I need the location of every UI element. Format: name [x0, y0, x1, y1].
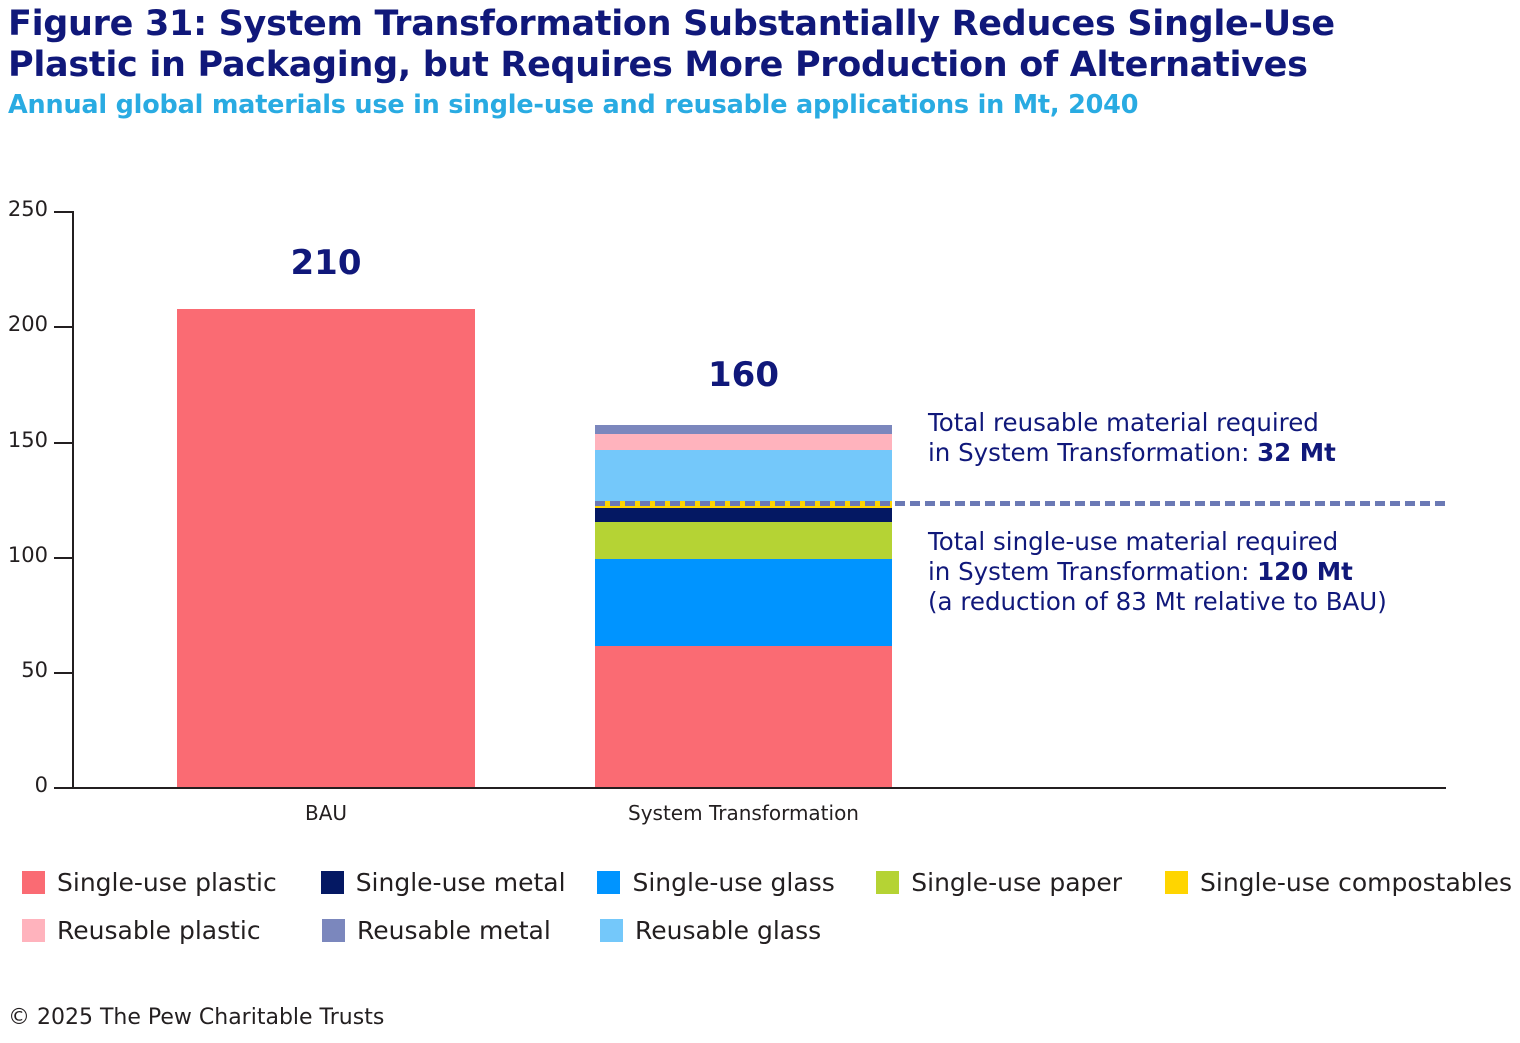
y-tick-50: 50 [0, 672, 74, 674]
bar-bau[interactable] [177, 309, 475, 787]
legend-label-single-use-metal: Single-use metal [356, 869, 566, 896]
y-tick-100: 100 [0, 557, 74, 559]
figure-title-line-2: Plastic in Packaging, but Requires More … [8, 45, 1488, 86]
figure-subtitle: Annual global materials use in single-us… [8, 88, 1488, 122]
segment-st-single-use-paper[interactable] [595, 522, 892, 559]
y-tick-mark [54, 787, 74, 789]
legend-swatch-single-use-metal [321, 871, 344, 894]
legend-swatch-reusable-metal [322, 919, 345, 942]
y-tick-mark [54, 211, 74, 213]
y-tick-mark [54, 442, 74, 444]
y-tick-0: 0 [0, 787, 74, 789]
reusable-annotation-line-2: in System Transformation: 32 Mt [928, 438, 1336, 468]
legend-swatch-reusable-glass [600, 919, 623, 942]
y-tick-200: 200 [0, 326, 74, 328]
legend-label-reusable-metal: Reusable metal [357, 917, 551, 944]
y-tick-label-250: 250 [0, 199, 48, 220]
single-use-annotation-line-3: (a reduction of 83 Mt relative to BAU) [928, 587, 1387, 617]
legend-item-single-use-paper[interactable]: Single-use paper [876, 862, 1165, 902]
y-tick-150: 150 [0, 442, 74, 444]
y-tick-250: 250 [0, 211, 74, 213]
legend-label-reusable-glass: Reusable glass [635, 917, 821, 944]
legend-label-single-use-glass: Single-use glass [632, 869, 834, 896]
reusable-annotation-line-2-prefix: in System Transformation: [928, 438, 1257, 467]
legend-swatch-single-use-paper [876, 871, 899, 894]
legend-item-reusable-metal[interactable]: Reusable metal [322, 910, 600, 950]
y-tick-label-0: 0 [0, 775, 48, 796]
legend-label-single-use-plastic: Single-use plastic [57, 869, 277, 896]
figure-title-line-1: Figure 31: System Transformation Substan… [8, 4, 1488, 45]
single-use-annotation-line-1: Total single-use material required [928, 527, 1387, 557]
single-use-annotation-line-2: in System Transformation: 120 Mt [928, 557, 1387, 587]
legend-item-reusable-glass[interactable]: Reusable glass [600, 910, 880, 950]
segment-st-single-use-metal[interactable] [595, 508, 892, 522]
reusable-annotation: Total reusable material required in Syst… [928, 408, 1336, 468]
segment-bau-single-use-plastic[interactable] [177, 309, 475, 787]
segment-st-reusable-plastic[interactable] [595, 434, 892, 450]
legend-swatch-single-use-plastic [22, 871, 45, 894]
y-tick-label-50: 50 [0, 660, 48, 681]
chart-legend: Single-use plastic Single-use metal Sing… [22, 862, 1512, 958]
y-tick-label-150: 150 [0, 430, 48, 451]
single-use-reusable-divider-line [595, 501, 1445, 506]
legend-item-single-use-metal[interactable]: Single-use metal [321, 862, 598, 902]
single-use-annotation-line-2-prefix: in System Transformation: [928, 557, 1257, 586]
title-block: Figure 31: System Transformation Substan… [8, 4, 1488, 122]
y-tick-label-200: 200 [0, 314, 48, 335]
copyright-footer: © 2025 The Pew Charitable Trusts [8, 1005, 384, 1031]
x-axis-category-system-transformation: System Transformation [575, 802, 912, 824]
reusable-annotation-line-1: Total reusable material required [928, 408, 1336, 438]
y-tick-mark [54, 326, 74, 328]
y-axis-line [72, 211, 74, 788]
x-axis-line [72, 787, 1446, 789]
segment-st-reusable-metal[interactable] [595, 425, 892, 434]
legend-label-single-use-compostables: Single-use compostables [1200, 869, 1512, 896]
x-axis-category-bau: BAU [177, 802, 475, 824]
legend-label-single-use-paper: Single-use paper [911, 869, 1122, 896]
single-use-annotation: Total single-use material required in Sy… [928, 527, 1387, 617]
legend-swatch-single-use-compostables [1165, 871, 1188, 894]
legend-item-single-use-compostables[interactable]: Single-use compostables [1165, 862, 1512, 902]
single-use-annotation-value: 120 Mt [1257, 557, 1353, 586]
bar-total-label-bau: 210 [177, 246, 475, 280]
legend-row-reusable: Reusable plastic Reusable metal Reusable… [22, 910, 1512, 958]
legend-item-single-use-plastic[interactable]: Single-use plastic [22, 862, 321, 902]
legend-swatch-reusable-plastic [22, 919, 45, 942]
y-tick-mark [54, 672, 74, 674]
legend-label-reusable-plastic: Reusable plastic [57, 917, 261, 944]
segment-st-single-use-plastic[interactable] [595, 646, 892, 787]
bar-system-transformation[interactable] [595, 425, 892, 787]
legend-swatch-single-use-glass [597, 871, 620, 894]
segment-st-reusable-glass[interactable] [595, 450, 892, 501]
segment-st-single-use-glass[interactable] [595, 559, 892, 647]
legend-item-single-use-glass[interactable]: Single-use glass [597, 862, 876, 902]
legend-row-single-use: Single-use plastic Single-use metal Sing… [22, 862, 1512, 910]
bar-total-label-system-transformation: 160 [595, 358, 892, 392]
chart-plot-area: 250 200 150 100 50 0 210 BAU 160 System … [0, 190, 1520, 810]
reusable-annotation-value: 32 Mt [1257, 438, 1336, 467]
legend-item-reusable-plastic[interactable]: Reusable plastic [22, 910, 322, 950]
y-tick-label-100: 100 [0, 545, 48, 566]
y-tick-mark [54, 557, 74, 559]
